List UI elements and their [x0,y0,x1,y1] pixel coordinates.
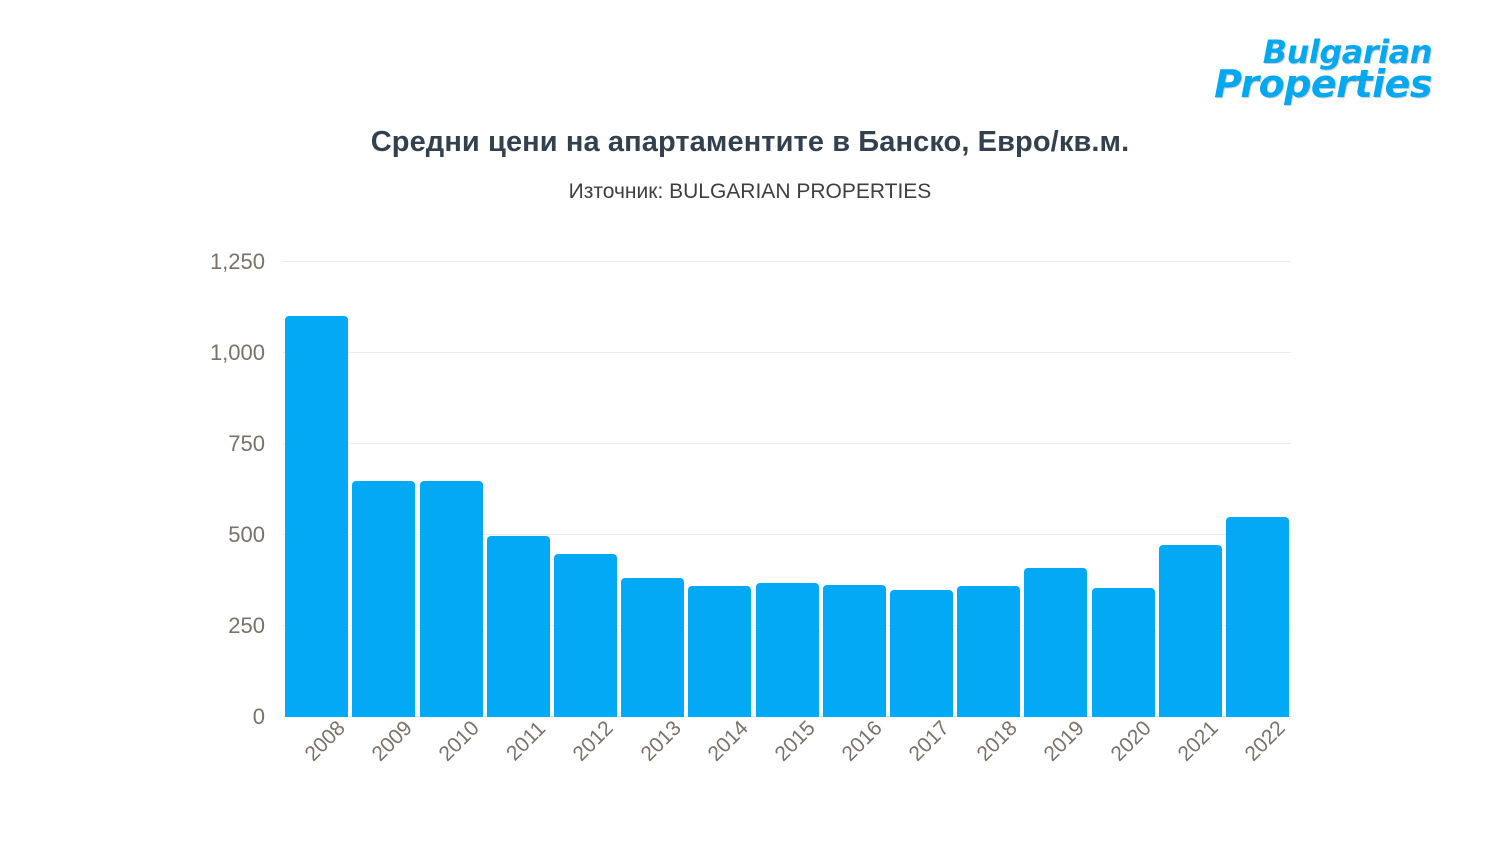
bar-slot-2010 [417,262,484,717]
x-axis-label-2018: 2018 [972,716,1022,766]
x-axis: 2008200920102011201220132014201520162017… [283,717,1291,817]
bar-2022[interactable] [1226,517,1289,717]
x-axis-label-2008: 2008 [300,716,350,766]
bar-2020[interactable] [1092,588,1155,717]
y-axis-label-0: 0 [253,704,265,730]
x-axis-slot-2022: 2022 [1224,717,1291,817]
y-axis-label-750: 750 [228,431,265,457]
bar-slot-2009 [350,262,417,717]
x-axis-label-2016: 2016 [838,716,888,766]
bar-2014[interactable] [688,586,751,717]
x-axis-slot-2008: 2008 [283,717,350,817]
y-axis-label-500: 500 [228,522,265,548]
x-axis-label-2019: 2019 [1039,716,1089,766]
logo-line-properties: Properties [1192,67,1432,102]
bar-2017[interactable] [890,590,953,717]
bar-slot-2011 [485,262,552,717]
x-axis-label-2021: 2021 [1174,716,1224,766]
bar-2009[interactable] [352,481,415,717]
bar-slot-2015 [753,262,820,717]
x-axis-slot-2010: 2010 [417,717,484,817]
plot-area [283,262,1291,717]
bar-2008[interactable] [285,316,348,717]
y-axis-label-1250: 1,250 [210,249,265,275]
x-axis-label-2010: 2010 [434,716,484,766]
bar-2012[interactable] [554,554,617,717]
bar-slot-2017 [888,262,955,717]
x-axis-label-2009: 2009 [367,716,417,766]
x-axis-label-2013: 2013 [636,716,686,766]
x-axis-slot-2012: 2012 [552,717,619,817]
x-axis-slot-2018: 2018 [955,717,1022,817]
x-axis-label-2014: 2014 [703,716,753,766]
bar-slot-2021 [1157,262,1224,717]
x-axis-label-2012: 2012 [569,716,619,766]
bar-2013[interactable] [621,578,684,717]
x-axis-slot-2009: 2009 [350,717,417,817]
y-axis-label-250: 250 [228,613,265,639]
x-axis-label-2017: 2017 [905,716,955,766]
x-axis-slot-2016: 2016 [821,717,888,817]
x-axis-label-2020: 2020 [1106,716,1156,766]
x-axis-slot-2011: 2011 [485,717,552,817]
bar-2018[interactable] [957,586,1020,717]
bar-slot-2020 [1089,262,1156,717]
x-axis-slot-2021: 2021 [1157,717,1224,817]
x-axis-slot-2014: 2014 [686,717,753,817]
brand-logo: Bulgarian Properties [1192,38,1432,110]
bar-2011[interactable] [487,536,550,717]
bar-2010[interactable] [420,481,483,717]
bar-series [283,262,1291,717]
x-axis-slot-2019: 2019 [1022,717,1089,817]
chart-subtitle-source: Източник: BULGARIAN PROPERTIES [0,180,1500,204]
bar-slot-2012 [552,262,619,717]
y-axis-label-1000: 1,000 [210,340,265,366]
x-axis-label-2022: 2022 [1241,716,1291,766]
x-axis-slot-2020: 2020 [1089,717,1156,817]
bar-slot-2014 [686,262,753,717]
bar-2016[interactable] [823,585,886,717]
bar-slot-2008 [283,262,350,717]
x-axis-label-2011: 2011 [502,717,551,766]
bar-slot-2018 [955,262,1022,717]
x-axis-slot-2017: 2017 [888,717,955,817]
y-axis: 02505007501,0001,250 [150,262,265,717]
x-axis-label-2015: 2015 [770,716,820,766]
bar-slot-2013 [619,262,686,717]
bar-2019[interactable] [1024,568,1087,717]
bar-slot-2019 [1022,262,1089,717]
bar-slot-2022 [1224,262,1291,717]
bar-2021[interactable] [1159,545,1222,717]
x-axis-slot-2013: 2013 [619,717,686,817]
bar-slot-2016 [821,262,888,717]
bar-2015[interactable] [756,583,819,717]
x-axis-slot-2015: 2015 [753,717,820,817]
chart-title: Средни цени на апартаментите в Банско, Е… [0,126,1500,159]
